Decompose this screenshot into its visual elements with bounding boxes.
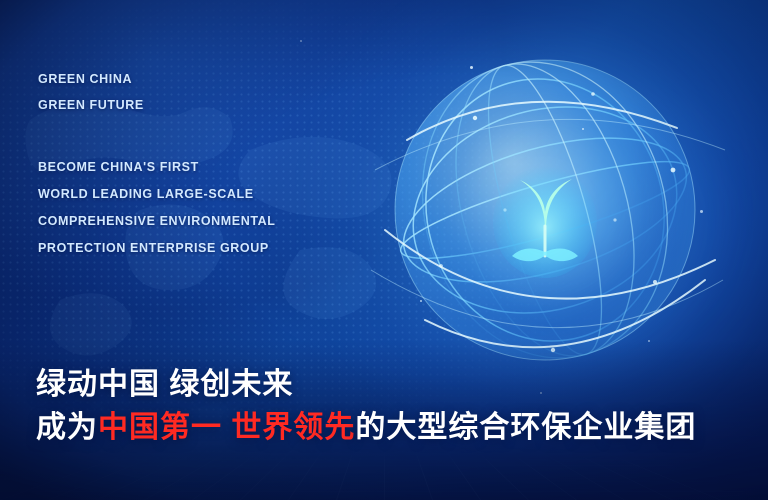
chinese-headline-line-2: 成为中国第一 世界领先的大型综合环保企业集团 xyxy=(36,406,696,450)
english-subtitle: BECOME CHINA'S FIRST WORLD LEADING LARGE… xyxy=(38,154,276,262)
tagline-line-2: GREEN FUTURE xyxy=(38,92,276,118)
headline-prefix: 成为 xyxy=(36,411,98,444)
english-copy-block: GREEN CHINA GREEN FUTURE BECOME CHINA'S … xyxy=(38,66,276,262)
chinese-headline-block: 绿动中国 绿创未来 成为中国第一 世界领先的大型综合环保企业集团 xyxy=(36,364,696,450)
subtitle-line-1: BECOME CHINA'S FIRST xyxy=(38,154,276,181)
subtitle-line-2: WORLD LEADING LARGE-SCALE xyxy=(38,181,276,208)
subtitle-line-3: COMPREHENSIVE ENVIRONMENTAL xyxy=(38,208,276,235)
headline-accent: 中国第一 世界领先 xyxy=(98,411,355,444)
perspective-grid xyxy=(0,453,768,500)
subtitle-line-4: PROTECTION ENTERPRISE GROUP xyxy=(38,235,276,262)
globe-graphic xyxy=(355,20,735,400)
tagline-line-1: GREEN CHINA xyxy=(38,66,276,92)
green-sprout-emblem-icon xyxy=(490,160,600,280)
poster-canvas: GREEN CHINA GREEN FUTURE BECOME CHINA'S … xyxy=(0,0,768,500)
chinese-headline-line-1: 绿动中国 绿创未来 xyxy=(36,364,696,406)
headline-suffix: 的大型综合环保企业集团 xyxy=(355,411,696,444)
